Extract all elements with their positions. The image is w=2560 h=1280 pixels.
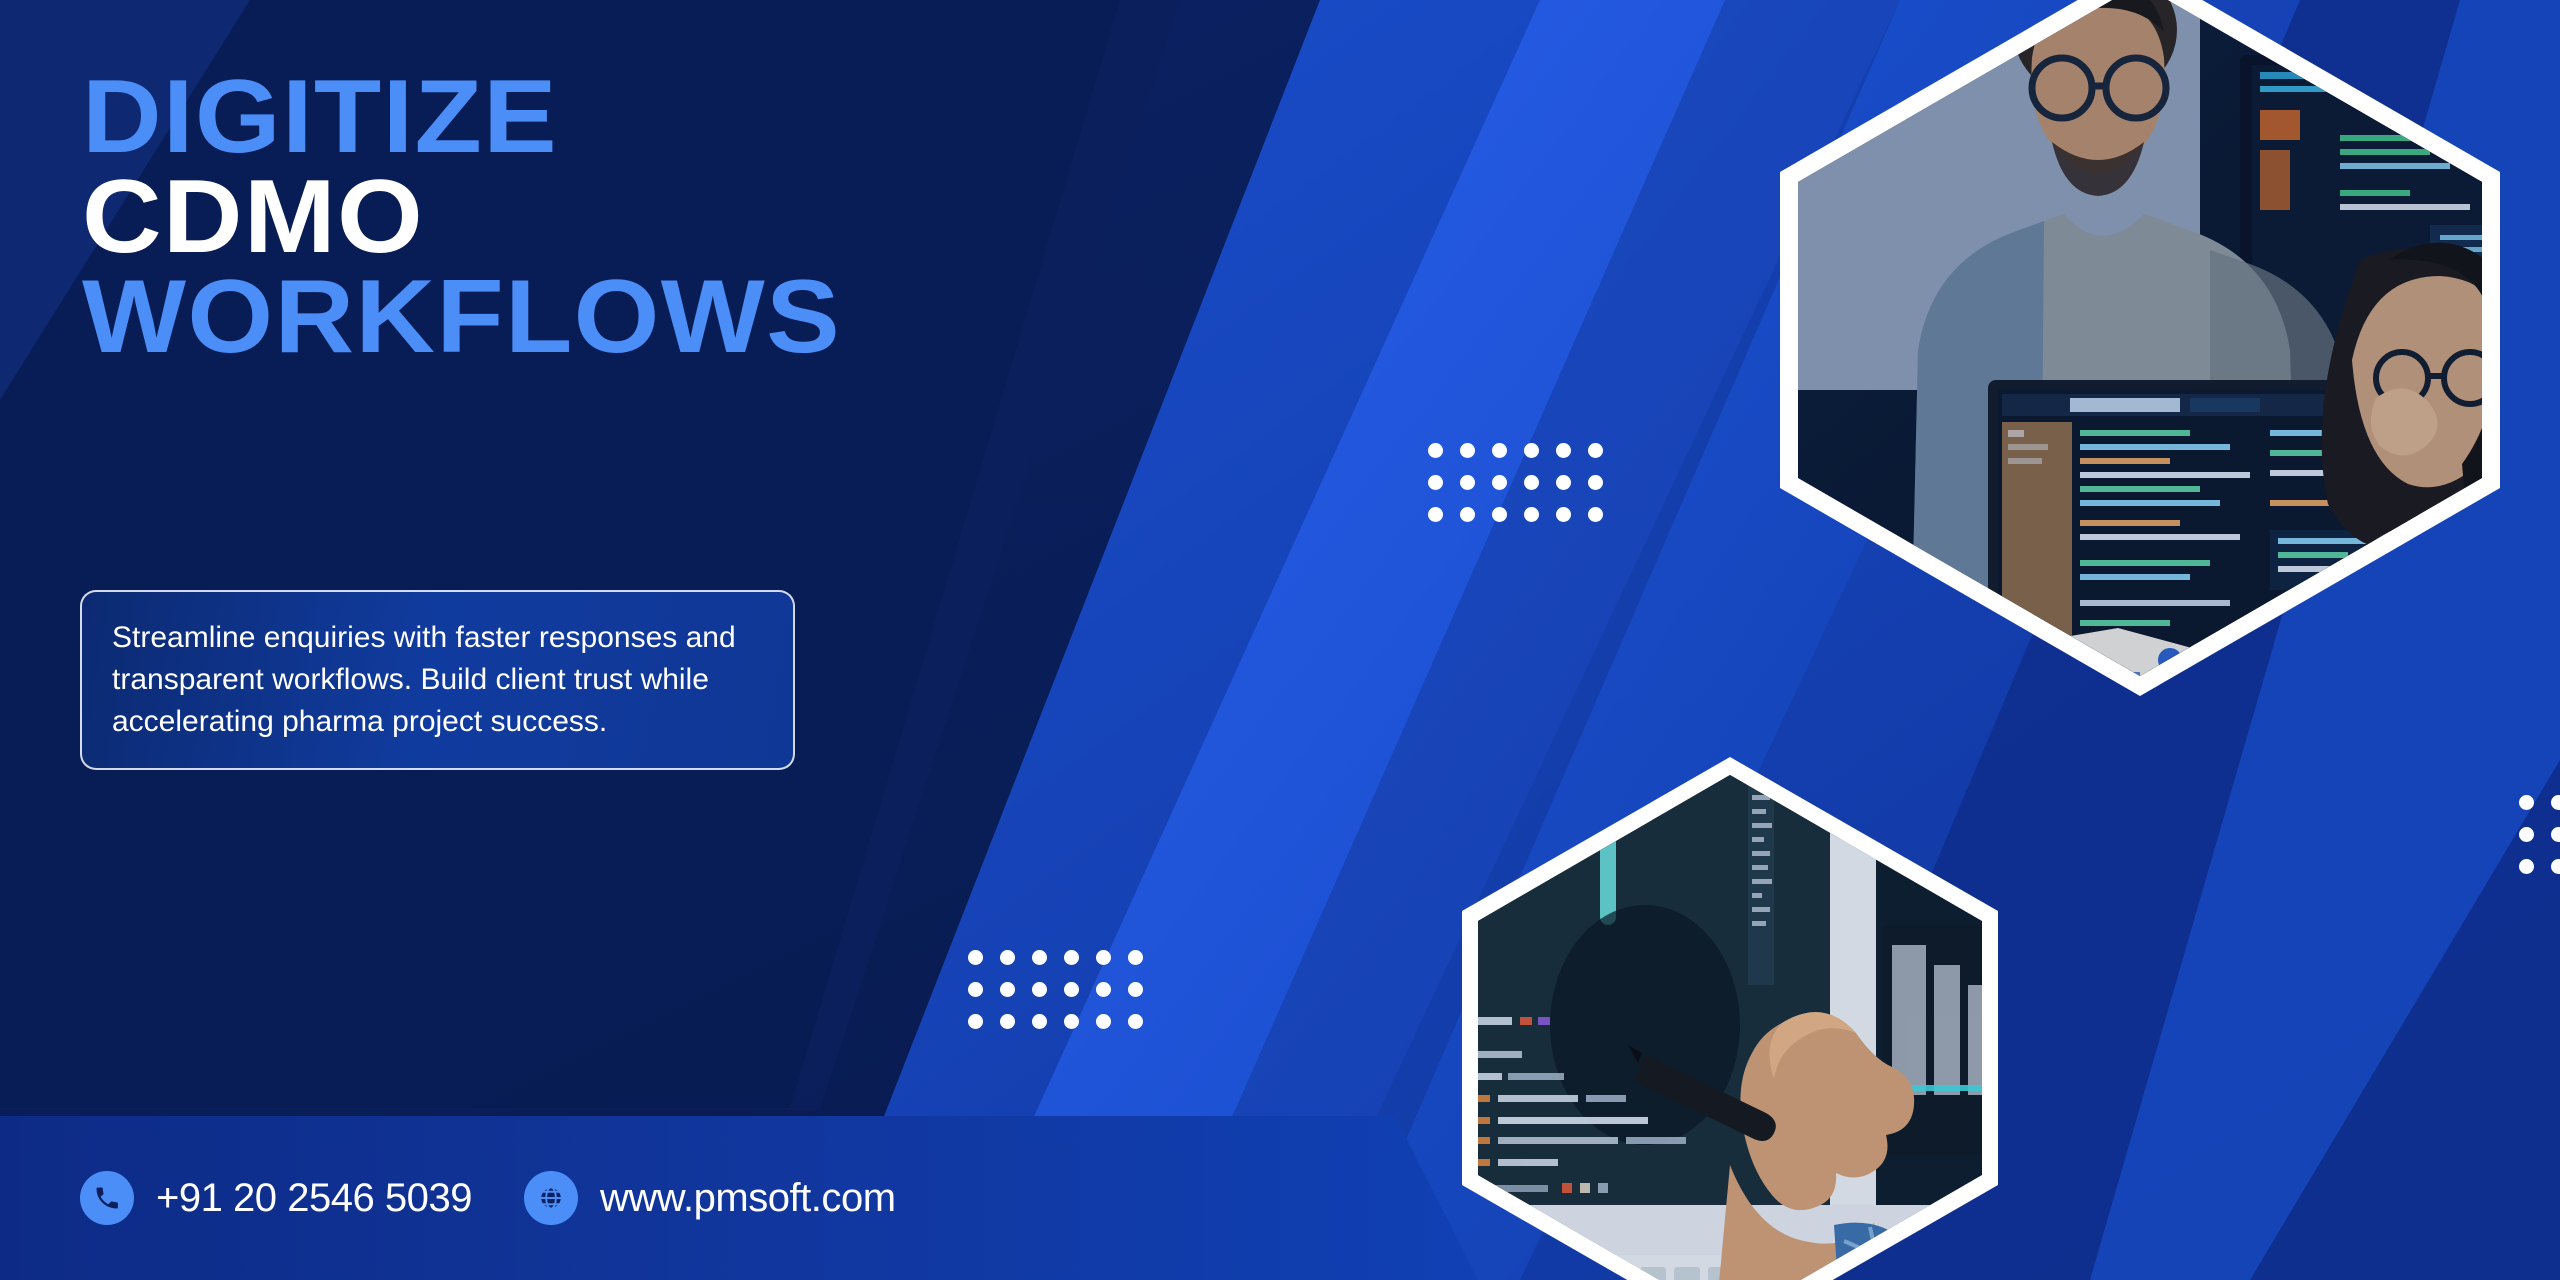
dot (1128, 1014, 1143, 1029)
dot (1096, 1014, 1111, 1029)
marketing-banner: DIGITIZE CDMO WORKFLOWS Streamline enqui… (0, 0, 2560, 1280)
dot (1096, 982, 1111, 997)
dot (2551, 827, 2560, 842)
headline-line-1: DIGITIZE (82, 68, 1333, 168)
dot (1032, 982, 1047, 997)
dot (1096, 950, 1111, 965)
dot (968, 1014, 983, 1029)
dot (1032, 950, 1047, 965)
dot (968, 982, 983, 997)
dot (1556, 443, 1571, 458)
dot (1556, 475, 1571, 490)
dot (2551, 795, 2560, 810)
dot (1492, 475, 1507, 490)
dot (2519, 859, 2534, 874)
hero-photo-developers (1740, 0, 2540, 700)
dot (1556, 507, 1571, 522)
dot (1000, 1014, 1015, 1029)
dot (1032, 1014, 1047, 1029)
hexagon-frame-2 (1430, 755, 2030, 1280)
dot (1460, 507, 1475, 522)
dot (1064, 1014, 1079, 1029)
dot (1128, 982, 1143, 997)
dot-grid-decoration-2 (968, 950, 1143, 1029)
globe-icon (524, 1171, 578, 1225)
content-column: DIGITIZE CDMO WORKFLOWS Streamline enqui… (0, 0, 1360, 1280)
hexagon-frame-1 (1740, 0, 2540, 700)
dot (1000, 950, 1015, 965)
dot (1460, 443, 1475, 458)
dot (1588, 443, 1603, 458)
contact-phone[interactable]: +91 20 2546 5039 (80, 1171, 472, 1225)
dot (1524, 475, 1539, 490)
headline-line-2: CDMO (82, 168, 1333, 268)
headline-block: DIGITIZE CDMO WORKFLOWS (82, 68, 1262, 367)
dot (1064, 950, 1079, 965)
description-text: Streamline enquiries with faster respons… (82, 617, 793, 743)
dot (2519, 795, 2534, 810)
contact-website[interactable]: www.pmsoft.com (524, 1171, 896, 1225)
phone-icon (80, 1171, 134, 1225)
dot-grid-decoration-1 (1428, 443, 1603, 522)
hero-photo-hand-pen (1430, 755, 2030, 1280)
dot (1000, 982, 1015, 997)
description-box: Streamline enquiries with faster respons… (80, 590, 795, 770)
dot (1064, 982, 1079, 997)
dot-grid-decoration-3-clipped (2519, 795, 2560, 874)
dot (1428, 507, 1443, 522)
headline-line-3: WORKFLOWS (82, 268, 1333, 368)
dot (1524, 507, 1539, 522)
contact-footer-bar: +91 20 2546 5039 www.pmsoft.com (0, 1116, 1478, 1280)
dot (1492, 443, 1507, 458)
photo-content-1 (1740, 0, 2540, 700)
dot (1492, 507, 1507, 522)
dot (1588, 507, 1603, 522)
dot (1128, 950, 1143, 965)
dot (968, 950, 983, 965)
website-url-text: www.pmsoft.com (600, 1176, 896, 1221)
dot (1460, 475, 1475, 490)
dot (1588, 475, 1603, 490)
dot (2551, 859, 2560, 874)
dot (1428, 475, 1443, 490)
dot (1428, 443, 1443, 458)
dot (2519, 827, 2534, 842)
phone-number-text: +91 20 2546 5039 (156, 1176, 472, 1221)
dot (1524, 443, 1539, 458)
